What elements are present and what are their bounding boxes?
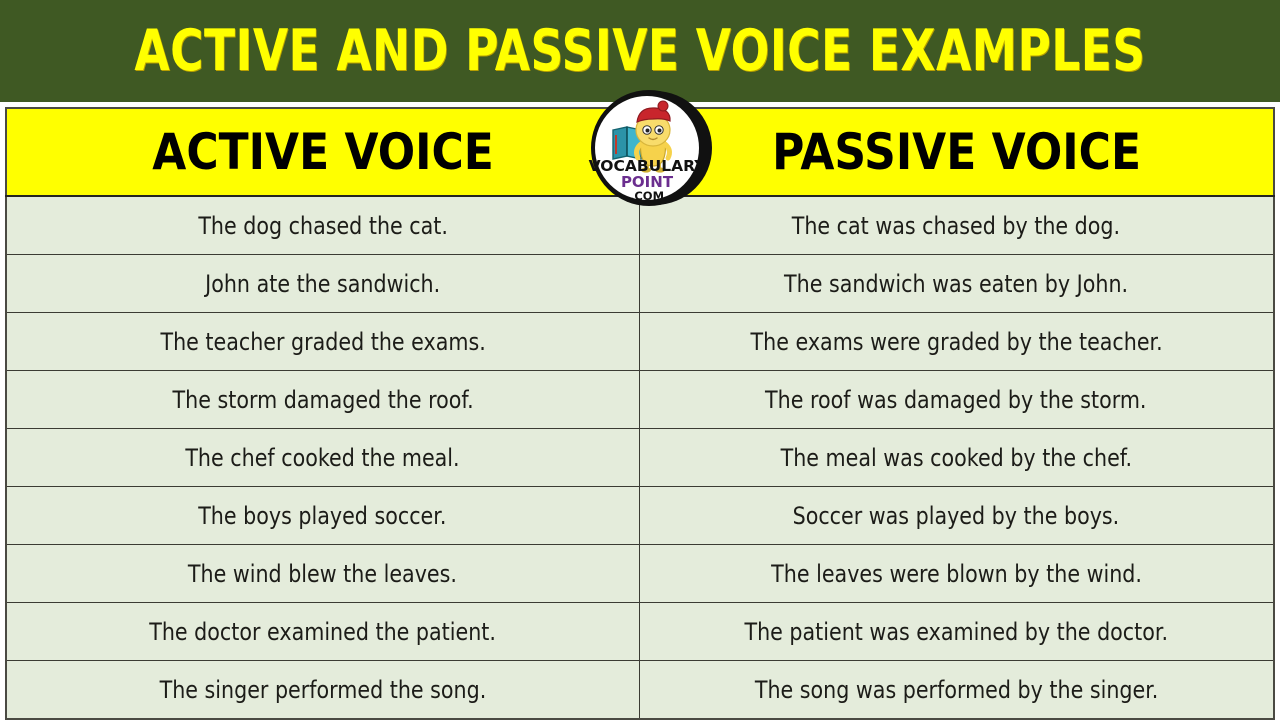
- active-cell: The chef cooked the meal.: [6, 429, 639, 487]
- passive-sentence: Soccer was played by the boys.: [793, 502, 1120, 530]
- active-sentence: The wind blew the leaves.: [188, 560, 457, 588]
- passive-sentence: The roof was damaged by the storm.: [766, 386, 1147, 414]
- table-row: The teacher graded the exams. The exams …: [6, 313, 1274, 371]
- passive-cell: The meal was cooked by the chef.: [639, 429, 1274, 487]
- column-header-active: ACTIVE VOICE: [6, 108, 639, 196]
- active-sentence: John ate the sandwich.: [205, 270, 440, 298]
- table-row: The doctor examined the patient. The pat…: [6, 603, 1274, 661]
- passive-cell: The song was performed by the singer.: [639, 661, 1274, 720]
- passive-sentence: The exams were graded by the teacher.: [750, 328, 1162, 356]
- passive-sentence: The cat was chased by the dog.: [792, 212, 1120, 240]
- column-header-active-label: ACTIVE VOICE: [152, 126, 494, 178]
- active-cell: The teacher graded the exams.: [6, 313, 639, 371]
- passive-cell: Soccer was played by the boys.: [639, 487, 1274, 545]
- logo-line3: .COM: [630, 189, 664, 203]
- active-sentence: The boys played soccer.: [199, 502, 447, 530]
- passive-cell: The roof was damaged by the storm.: [639, 371, 1274, 429]
- table-row: The singer performed the song. The song …: [6, 661, 1274, 720]
- active-cell: The boys played soccer.: [6, 487, 639, 545]
- table-body: The dog chased the cat. The cat was chas…: [6, 196, 1274, 719]
- passive-cell: The patient was examined by the doctor.: [639, 603, 1274, 661]
- active-sentence: The teacher graded the exams.: [160, 328, 485, 356]
- page-title: ACTIVE AND PASSIVE VOICE EXAMPLES: [134, 22, 1145, 80]
- passive-sentence: The meal was cooked by the chef.: [780, 444, 1131, 472]
- active-cell: The singer performed the song.: [6, 661, 639, 720]
- passive-cell: The cat was chased by the dog.: [639, 196, 1274, 255]
- column-header-passive: PASSIVE VOICE: [639, 108, 1274, 196]
- active-sentence: The singer performed the song.: [159, 676, 486, 704]
- active-cell: The wind blew the leaves.: [6, 545, 639, 603]
- passive-sentence: The leaves were blown by the wind.: [771, 560, 1142, 588]
- passive-sentence: The song was performed by the singer.: [754, 676, 1158, 704]
- active-cell: John ate the sandwich.: [6, 255, 639, 313]
- active-cell: The doctor examined the patient.: [6, 603, 639, 661]
- table-row: The chef cooked the meal. The meal was c…: [6, 429, 1274, 487]
- active-sentence: The doctor examined the patient.: [149, 618, 496, 646]
- active-cell: The storm damaged the roof.: [6, 371, 639, 429]
- table-row: John ate the sandwich. The sandwich was …: [6, 255, 1274, 313]
- table-row: The wind blew the leaves. The leaves wer…: [6, 545, 1274, 603]
- vocabulary-point-logo[interactable]: VOCABULARY POINT .COM: [583, 88, 721, 208]
- table-row: The storm damaged the roof. The roof was…: [6, 371, 1274, 429]
- title-banner: ACTIVE AND PASSIVE VOICE EXAMPLES: [0, 0, 1280, 102]
- passive-sentence: The sandwich was eaten by John.: [784, 270, 1128, 298]
- column-header-passive-label: PASSIVE VOICE: [772, 126, 1141, 178]
- passive-cell: The exams were graded by the teacher.: [639, 313, 1274, 371]
- active-cell: The dog chased the cat.: [6, 196, 639, 255]
- passive-cell: The leaves were blown by the wind.: [639, 545, 1274, 603]
- active-sentence: The dog chased the cat.: [198, 212, 448, 240]
- passive-cell: The sandwich was eaten by John.: [639, 255, 1274, 313]
- active-sentence: The chef cooked the meal.: [186, 444, 460, 472]
- active-sentence: The storm damaged the roof.: [172, 386, 473, 414]
- table-row: The boys played soccer. Soccer was playe…: [6, 487, 1274, 545]
- passive-sentence: The patient was examined by the doctor.: [744, 618, 1168, 646]
